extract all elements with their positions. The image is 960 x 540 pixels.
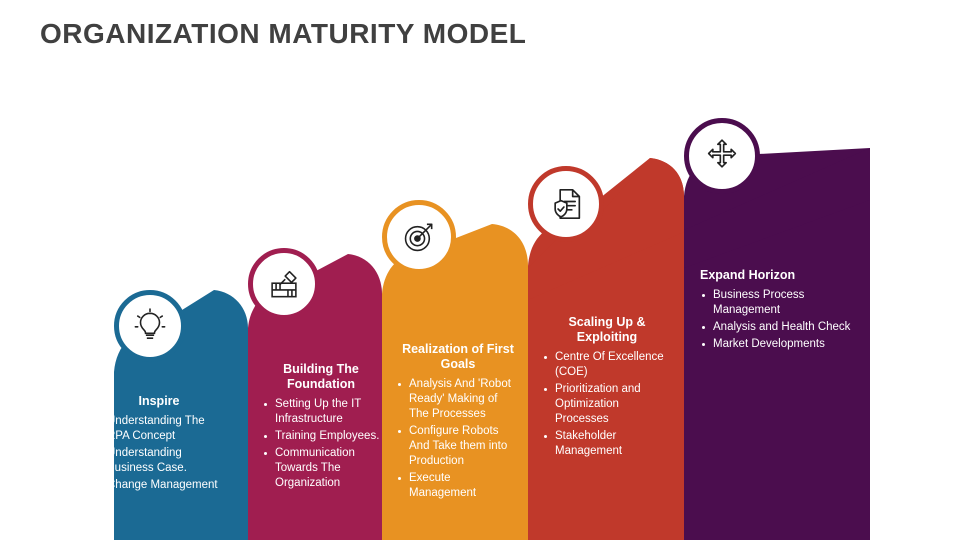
badge-inspire bbox=[114, 290, 186, 362]
step-text-inspire: Inspire Understanding The RPA Concept Un… bbox=[94, 394, 224, 495]
brick-wall-trowel-icon bbox=[253, 253, 315, 315]
step-heading-building-the-foundation: Building The Foundation bbox=[262, 362, 380, 392]
step-text-building-the-foundation: Building The Foundation Setting Up the I… bbox=[262, 362, 380, 493]
step-heading-scaling-up-and-exploiting: Scaling Up & Exploiting bbox=[542, 315, 672, 345]
list-item: Market Developments bbox=[700, 337, 860, 352]
step-bullets-expand-horizon: Business Process Management Analysis and… bbox=[700, 288, 860, 352]
list-item: Change Management bbox=[94, 478, 224, 493]
badge-scaling-up-and-exploiting bbox=[528, 166, 604, 242]
list-item: Analysis And 'Robot Ready' Making of The… bbox=[396, 377, 520, 422]
step-heading-realization-of-first-goals: Realization of First Goals bbox=[396, 342, 520, 372]
target-arrow-icon bbox=[387, 205, 451, 269]
list-item: Setting Up the IT Infrastructure bbox=[262, 397, 380, 427]
lightbulb-icon bbox=[119, 295, 181, 357]
step-bullets-realization-of-first-goals: Analysis And 'Robot Ready' Making of The… bbox=[396, 377, 520, 501]
list-item: Execute Management bbox=[396, 471, 520, 501]
list-item: Business Process Management bbox=[700, 288, 860, 318]
expand-arrows-icon bbox=[689, 123, 755, 189]
badge-realization-of-first-goals bbox=[382, 200, 456, 274]
badge-building-the-foundation bbox=[248, 248, 320, 320]
step-bullets-inspire: Understanding The RPA Concept Understand… bbox=[94, 414, 224, 493]
step-heading-inspire: Inspire bbox=[94, 394, 224, 409]
list-item: Configure Robots And Take them into Prod… bbox=[396, 424, 520, 469]
document-shield-icon bbox=[533, 171, 599, 237]
list-item: Stakeholder Management bbox=[542, 429, 672, 459]
list-item: Analysis and Health Check bbox=[700, 320, 860, 335]
step-text-expand-horizon: Expand Horizon Business Process Manageme… bbox=[700, 268, 860, 354]
slide-canvas: ORGANIZATION MATURITY MODEL bbox=[0, 0, 960, 540]
list-item: Communication Towards The Organization bbox=[262, 446, 380, 491]
step-text-scaling-up-and-exploiting: Scaling Up & Exploiting Centre Of Excell… bbox=[542, 315, 672, 461]
list-item: Centre Of Excellence (COE) bbox=[542, 350, 672, 380]
list-item: Training Employees. bbox=[262, 429, 380, 444]
step-bullets-scaling-up-and-exploiting: Centre Of Excellence (COE) Prioritizatio… bbox=[542, 350, 672, 459]
step-heading-expand-horizon: Expand Horizon bbox=[700, 268, 860, 283]
step-bullets-building-the-foundation: Setting Up the IT Infrastructure Trainin… bbox=[262, 397, 380, 491]
list-item: Understanding The RPA Concept bbox=[94, 414, 224, 444]
list-item: Prioritization and Optimization Processe… bbox=[542, 382, 672, 427]
badge-expand-horizon bbox=[684, 118, 760, 194]
step-text-realization-of-first-goals: Realization of First Goals Analysis And … bbox=[396, 342, 520, 503]
list-item: Understanding Business Case. bbox=[94, 446, 224, 476]
